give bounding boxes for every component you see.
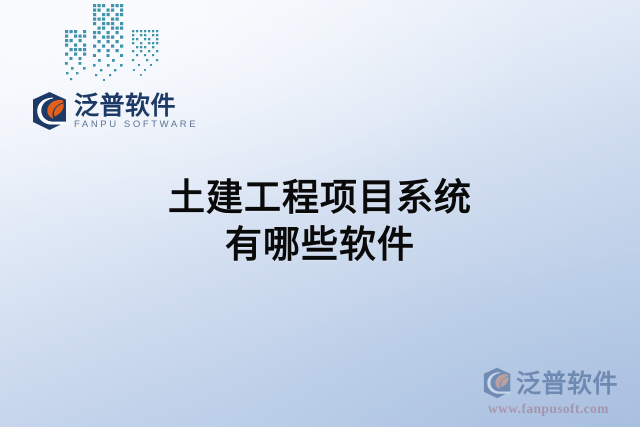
brand-text: 泛普软件 FANPU SOFTWARE [74, 92, 198, 131]
page-title-line-1: 土建工程项目系统 [0, 174, 640, 221]
watermark-url: www.fanpusoft.com [488, 401, 640, 417]
page-title: 土建工程项目系统 有哪些软件 [0, 174, 640, 268]
pixel-skyline-icon [62, 2, 166, 84]
brand-name-en: FANPU SOFTWARE [74, 120, 198, 130]
watermark-logo-row: 泛普软件 [482, 366, 640, 400]
brand-name-cn: 泛普软件 [74, 93, 198, 119]
promo-banner: 泛普软件 FANPU SOFTWARE 土建工程项目系统 有哪些软件 泛普软件 … [0, 0, 640, 427]
fanpu-logo-mark-icon [32, 91, 68, 131]
brand-logo: 泛普软件 FANPU SOFTWARE [32, 88, 198, 134]
watermark-name-cn: 泛普软件 [516, 371, 618, 396]
watermark: 泛普软件 www.fanpusoft.com [482, 366, 640, 418]
page-title-line-2: 有哪些软件 [0, 221, 640, 268]
fanpu-logo-mark-icon [482, 367, 513, 399]
